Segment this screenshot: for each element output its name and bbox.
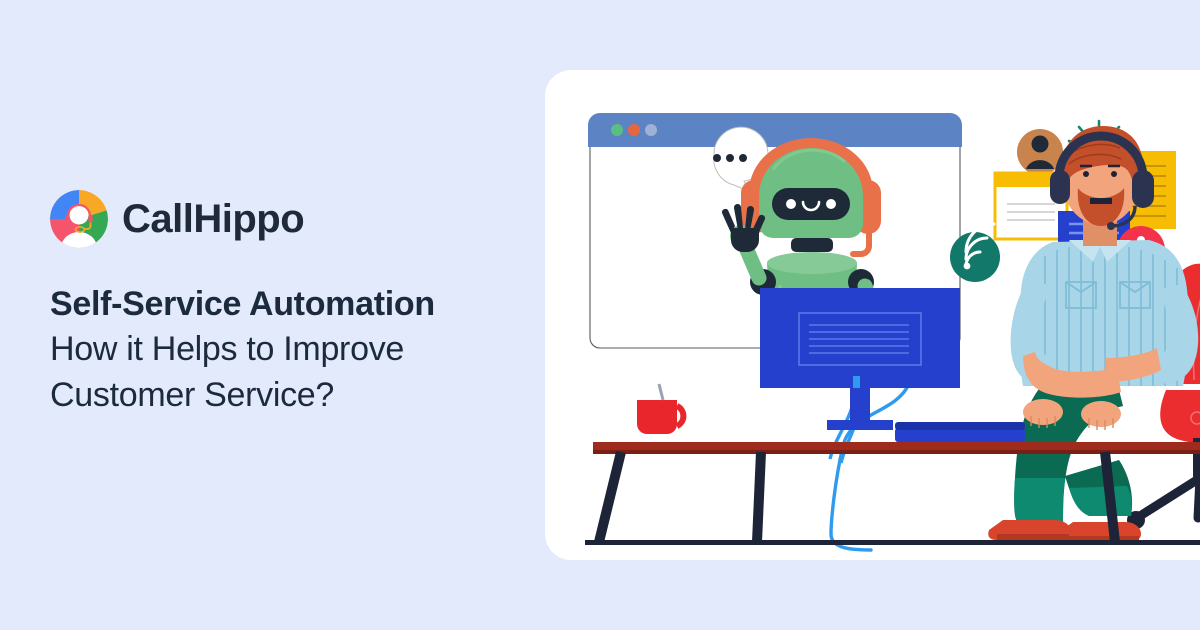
illustration-card: [545, 70, 1200, 560]
headline-line-1: Self-Service Automation: [50, 282, 520, 327]
robot-visor: [772, 188, 850, 220]
robot-eye-right: [826, 199, 836, 209]
keyboard: [895, 422, 1025, 442]
desk-leg-left: [599, 452, 621, 542]
traffic-light-orange: [628, 124, 640, 136]
callhippo-logo-icon: [50, 190, 108, 248]
monitor: [760, 288, 960, 430]
chair-base: [1140, 478, 1200, 518]
robot-eye-left: [786, 199, 796, 209]
headline-block: Self-Service Automation How it Helps to …: [50, 282, 520, 419]
coffee-mug: [637, 384, 683, 434]
headline-line-2: How it Helps to Improve: [50, 327, 520, 373]
headline-line-3: Customer Service?: [50, 373, 520, 419]
customer-service-illustration: [545, 70, 1200, 560]
hero-text-panel: CallHippo Self-Service Automation How it…: [50, 190, 520, 419]
brand-name: CallHippo: [122, 199, 304, 239]
robot-neck: [791, 238, 833, 252]
brand-lockup: CallHippo: [50, 190, 520, 248]
desk-leg-mid: [757, 452, 761, 542]
traffic-light-blue: [645, 124, 657, 136]
traffic-light-green: [611, 124, 623, 136]
